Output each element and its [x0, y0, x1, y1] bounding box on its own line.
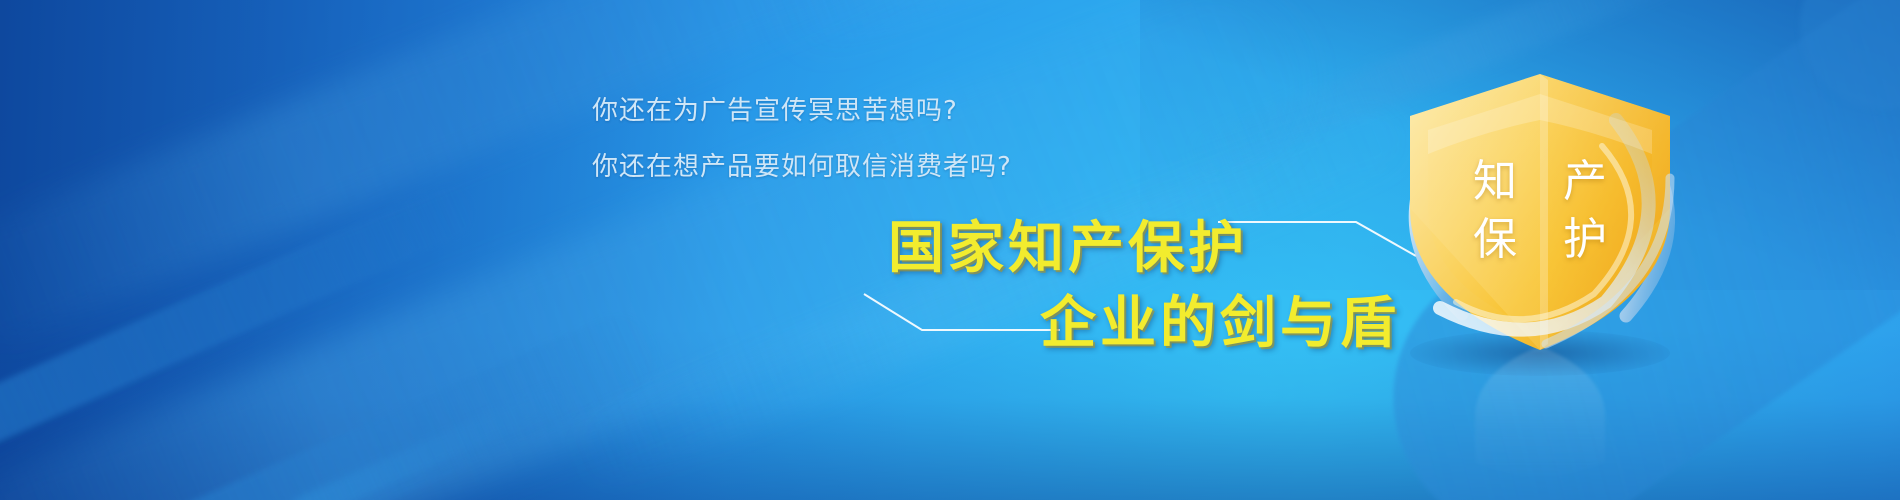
headline-line-1: 国家知产保护 [888, 203, 1248, 284]
headline-line-2: 企业的剑与盾 [1040, 278, 1400, 359]
subhead-line-1: 你还在为广告宣传冥思苦想吗? [592, 90, 958, 127]
promo-banner: 你还在为广告宣传冥思苦想吗? 你还在想产品要如何取信消费者吗? 国家知产保护 企… [0, 0, 1900, 500]
shield-icon [1370, 58, 1710, 358]
subhead-line-2: 你还在想产品要如何取信消费者吗? [592, 146, 1012, 183]
shield-emblem: 知 产 保 护 [1370, 58, 1710, 358]
